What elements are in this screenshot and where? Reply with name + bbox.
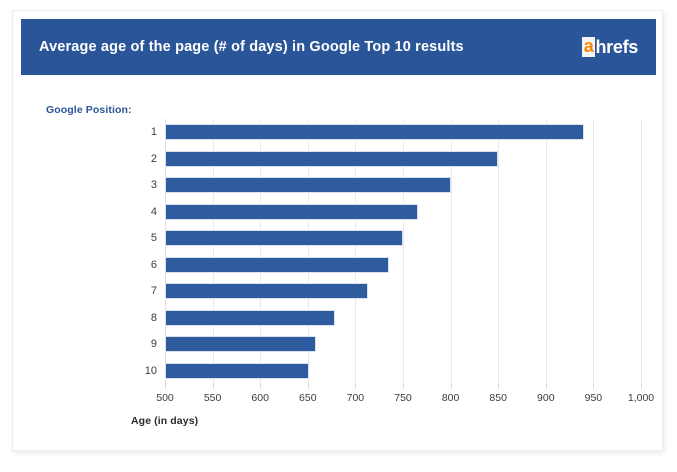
bar-row: 5	[21, 225, 656, 252]
bar[interactable]	[165, 177, 451, 193]
y-axis-tick-label: 1	[117, 126, 157, 138]
bar-row: 9	[21, 331, 656, 358]
bar[interactable]	[165, 230, 403, 246]
ahrefs-logo: ahrefs	[582, 37, 638, 57]
ahrefs-logo-mark: a	[582, 37, 596, 57]
bar[interactable]	[165, 257, 389, 273]
x-axis-tick-label: 650	[299, 392, 317, 404]
x-axis-title: Age (in days)	[131, 415, 198, 427]
x-axis-tick-label: 750	[394, 392, 412, 404]
x-axis-tick-mark	[165, 384, 166, 389]
plot-area: 12345678910	[21, 119, 656, 384]
bar[interactable]	[165, 363, 309, 379]
x-axis-tick-mark	[260, 384, 261, 389]
y-axis-tick-label: 10	[117, 365, 157, 377]
y-axis-tick-label: 2	[117, 153, 157, 165]
bar-row: 2	[21, 146, 656, 173]
bar-row: 8	[21, 305, 656, 332]
x-axis-tick-label: 1,000	[628, 392, 654, 404]
chart-card: Average age of the page (# of days) in G…	[12, 10, 663, 451]
x-axis-tick-label: 850	[489, 392, 507, 404]
bar[interactable]	[165, 310, 335, 326]
y-axis-tick-label: 8	[117, 312, 157, 324]
x-axis-tick-label: 500	[156, 392, 174, 404]
bar-row: 6	[21, 252, 656, 279]
x-axis-tick-label: 600	[251, 392, 269, 404]
ahrefs-logo-wordmark: hrefs	[595, 38, 638, 57]
x-axis-tick-mark	[593, 384, 594, 389]
x-axis-tick-label: 700	[347, 392, 365, 404]
y-axis-title: Google Position:	[46, 104, 132, 116]
y-axis-tick-label: 7	[117, 285, 157, 297]
bar-row: 3	[21, 172, 656, 199]
x-axis-tick-mark	[403, 384, 404, 389]
bar-row: 1	[21, 119, 656, 146]
bar[interactable]	[165, 336, 316, 352]
x-axis-tick-mark	[213, 384, 214, 389]
bar-row: 4	[21, 199, 656, 226]
x-axis-tick-mark	[546, 384, 547, 389]
x-axis-tick-label: 900	[537, 392, 555, 404]
x-axis-tick-mark	[308, 384, 309, 389]
chart-header-band: Average age of the page (# of days) in G…	[21, 19, 656, 75]
page-title: Average age of the page (# of days) in G…	[39, 39, 464, 55]
y-axis-tick-label: 9	[117, 338, 157, 350]
x-axis-tick-label: 950	[585, 392, 603, 404]
bar[interactable]	[165, 283, 368, 299]
y-axis-tick-label: 6	[117, 259, 157, 271]
x-axis-tick-mark	[451, 384, 452, 389]
x-axis: 5005506006507007508008509009501,000	[21, 384, 656, 410]
x-axis-tick-label: 550	[204, 392, 222, 404]
y-axis-tick-label: 3	[117, 179, 157, 191]
x-axis-tick-mark	[641, 384, 642, 389]
x-axis-tick-label: 800	[442, 392, 460, 404]
y-axis-tick-label: 5	[117, 232, 157, 244]
x-axis-tick-mark	[355, 384, 356, 389]
chart-body: Google Position: 12345678910 50055060065…	[21, 81, 656, 444]
bar[interactable]	[165, 204, 418, 220]
bar-row: 7	[21, 278, 656, 305]
bar-rows: 12345678910	[21, 119, 656, 384]
x-axis-tick-mark	[498, 384, 499, 389]
bar-row: 10	[21, 358, 656, 385]
bar[interactable]	[165, 151, 498, 167]
bar[interactable]	[165, 124, 584, 140]
y-axis-tick-label: 4	[117, 206, 157, 218]
